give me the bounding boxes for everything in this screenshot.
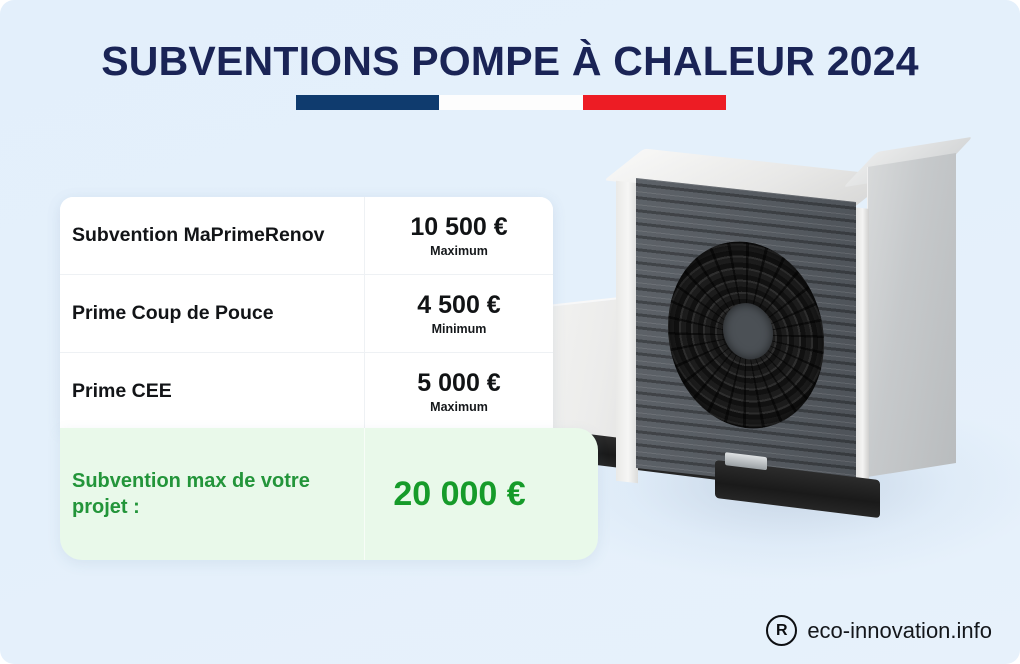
row-amount: 10 500 €	[410, 213, 507, 241]
heat-pump-frame-left	[616, 181, 638, 483]
total-subsidy-row: Subvention max de votre projet : 20 000 …	[60, 428, 598, 560]
registered-trademark-icon: R	[766, 615, 797, 646]
table-row: Prime Coup de Pouce 4 500 € Minimum	[60, 275, 553, 353]
heat-pump-front-grille	[636, 178, 856, 492]
subsidies-table: Subvention MaPrimeRenov 10 500 € Maximum…	[60, 197, 553, 430]
row-qualifier: Maximum	[430, 244, 488, 258]
infographic-canvas: SUBVENTIONS POMPE À CHALEUR 2024 Subvent…	[0, 0, 1020, 664]
footer-branding: R eco-innovation.info	[766, 615, 992, 646]
row-qualifier: Maximum	[430, 400, 488, 414]
total-value: 20 000 €	[364, 428, 598, 560]
row-amount: 4 500 €	[417, 291, 500, 319]
flag-segment-red	[583, 95, 726, 110]
heat-pump-photo	[540, 120, 1020, 580]
flag-segment-blue	[296, 95, 439, 110]
heat-pump-side-panel	[867, 153, 956, 477]
flag-segment-white	[439, 95, 582, 110]
row-label: Prime CEE	[60, 380, 364, 403]
row-label: Prime Coup de Pouce	[60, 302, 364, 325]
row-value: 10 500 € Maximum	[364, 197, 553, 274]
table-row: Subvention MaPrimeRenov 10 500 € Maximum	[60, 197, 553, 275]
total-label: Subvention max de votre projet :	[60, 468, 364, 521]
french-flag-divider	[296, 95, 726, 110]
row-label: Subvention MaPrimeRenov	[60, 224, 364, 247]
row-value: 5 000 € Maximum	[364, 353, 553, 430]
table-row: Prime CEE 5 000 € Maximum	[60, 353, 553, 430]
total-amount: 20 000 €	[393, 475, 569, 514]
row-qualifier: Minimum	[432, 322, 487, 336]
row-amount: 5 000 €	[417, 369, 500, 397]
site-name: eco-innovation.info	[807, 618, 992, 644]
row-value: 4 500 € Minimum	[364, 275, 553, 352]
page-title: SUBVENTIONS POMPE À CHALEUR 2024	[0, 38, 1020, 85]
